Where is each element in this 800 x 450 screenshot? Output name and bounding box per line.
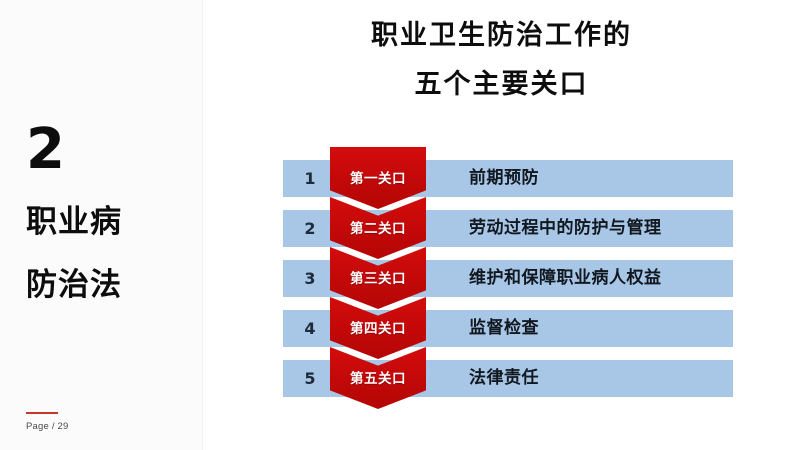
slide-content-area: 职业卫生防治工作的 五个主要关口 1 前期预防 2 劳动过程中的防护与管理 3 … bbox=[203, 0, 800, 450]
row-text: 法律责任 bbox=[469, 360, 539, 397]
section-number: 2 bbox=[26, 122, 64, 178]
row-index: 4 bbox=[291, 310, 329, 347]
slide-title: 职业卫生防治工作的 五个主要关口 bbox=[203, 22, 800, 98]
title-line-2: 五个主要关口 bbox=[203, 71, 800, 98]
page-number-label: Page / 29 bbox=[26, 421, 146, 432]
gate-label: 第四关口 bbox=[330, 317, 426, 337]
gate-label: 第一关口 bbox=[330, 167, 426, 187]
gate-label: 第五关口 bbox=[330, 367, 426, 387]
slide-canvas: 2 职业病 防治法 Page / 29 职业卫生防治工作的 五个主要关口 1 前… bbox=[0, 0, 800, 450]
footer-rule-divider bbox=[26, 412, 58, 414]
title-line-1: 职业卫生防治工作的 bbox=[203, 22, 800, 49]
gate-label: 第三关口 bbox=[330, 267, 426, 287]
section-title-line-1: 职业病 bbox=[26, 207, 122, 238]
row-text: 前期预防 bbox=[469, 160, 539, 197]
section-title-line-2: 防治法 bbox=[26, 270, 122, 301]
gate-chevron[interactable]: 第一关口 bbox=[330, 147, 426, 209]
row-text: 维护和保障职业病人权益 bbox=[469, 260, 662, 297]
row-index: 5 bbox=[291, 360, 329, 397]
gate-label: 第二关口 bbox=[330, 217, 426, 237]
gate-chevron-stack: 第一关口 第二关口 第三关口 第四关口 第五关口 bbox=[330, 147, 426, 417]
row-text: 劳动过程中的防护与管理 bbox=[469, 210, 662, 247]
left-section-panel: 2 职业病 防治法 Page / 29 bbox=[0, 0, 203, 450]
row-index: 3 bbox=[291, 260, 329, 297]
five-gates-diagram: 1 前期预防 2 劳动过程中的防护与管理 3 维护和保障职业病人权益 4 监督检… bbox=[283, 147, 733, 422]
row-index: 1 bbox=[291, 160, 329, 197]
row-index: 2 bbox=[291, 210, 329, 247]
row-text: 监督检查 bbox=[469, 310, 539, 347]
slide-footer: Page / 29 bbox=[26, 412, 146, 432]
